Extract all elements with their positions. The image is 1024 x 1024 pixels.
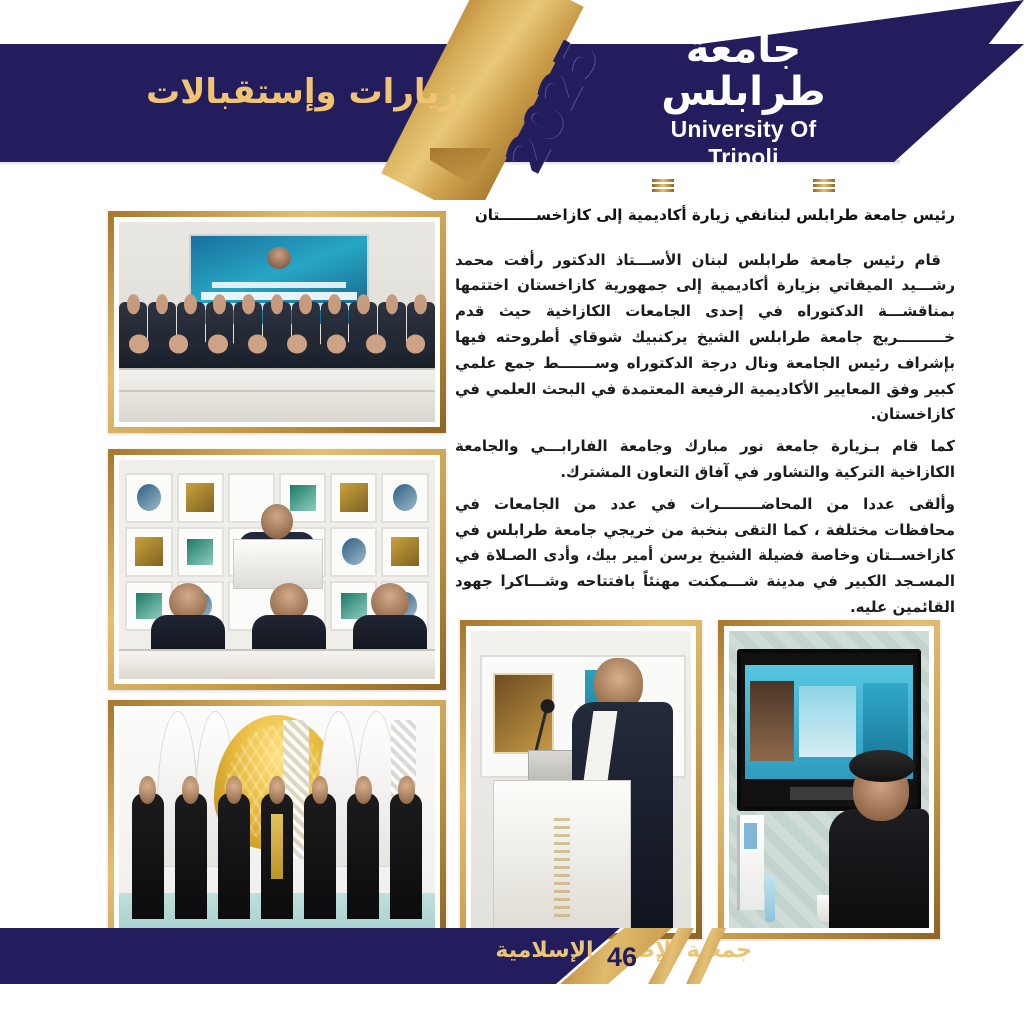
water-bottle-left (765, 875, 775, 923)
meeting-table (119, 649, 435, 679)
conference-group-photo (108, 211, 446, 433)
logo-arabic-name: جامعة طرابلس (636, 28, 851, 114)
speaking-lectern (233, 539, 323, 589)
article-paragraph-3: وألقى عددا من المحاضــــــــرات في عدد م… (455, 492, 955, 621)
meeting-room-scene (119, 460, 435, 679)
roundtable-meeting-photo (108, 449, 446, 690)
university-logo: جامعة طرابلس University Of Tripoli LEBAN… (636, 28, 851, 195)
conference-room-scene (119, 222, 435, 422)
page-footer: جمعية الإصلاح الإسلامية 46 (0, 928, 1024, 984)
page-title: زيارات وإستقبالات (146, 72, 459, 112)
logo-english-name: University Of Tripoli (636, 116, 851, 171)
seated-sheikh-body (829, 809, 929, 928)
screen-presentation-photo (718, 620, 940, 939)
mosque-visitors-row (132, 793, 423, 919)
ornament-bars-left-icon (652, 179, 674, 192)
ornament-bars-right-icon (813, 179, 835, 192)
screen-room-scene (729, 631, 929, 928)
podium-scene (471, 631, 691, 928)
podium-speaker-photo (460, 620, 702, 939)
article-body: رئيس جامعة طرابلس لبنانفي زيارة أكاديمية… (455, 204, 955, 627)
page-number: 46 (592, 942, 652, 973)
logo-country-text: LEBANON لبنــان (681, 177, 805, 195)
table-flag (737, 815, 764, 910)
mosque-group-photo (108, 700, 446, 939)
logo-country-line: LEBANON لبنــان (636, 177, 851, 195)
page-header: 2025 زيارات وإستقبالات جامعة طرابلس Univ… (0, 0, 1024, 200)
conference-table (119, 368, 435, 422)
mosque-interior-scene (119, 711, 435, 928)
screen-portrait (267, 247, 292, 270)
standing-speaker-head (261, 504, 293, 539)
article-headline: رئيس جامعة طرابلس لبنانفي زيارة أكاديمية… (455, 204, 955, 228)
article-paragraph-1: قام رئيس جامعة طرابلس لبنان الأســـتاذ ا… (455, 248, 955, 429)
article-paragraph-2: كما قام بـزيارة جامعة نور مبارك وجامعة ا… (455, 434, 955, 486)
lectern (493, 780, 631, 929)
